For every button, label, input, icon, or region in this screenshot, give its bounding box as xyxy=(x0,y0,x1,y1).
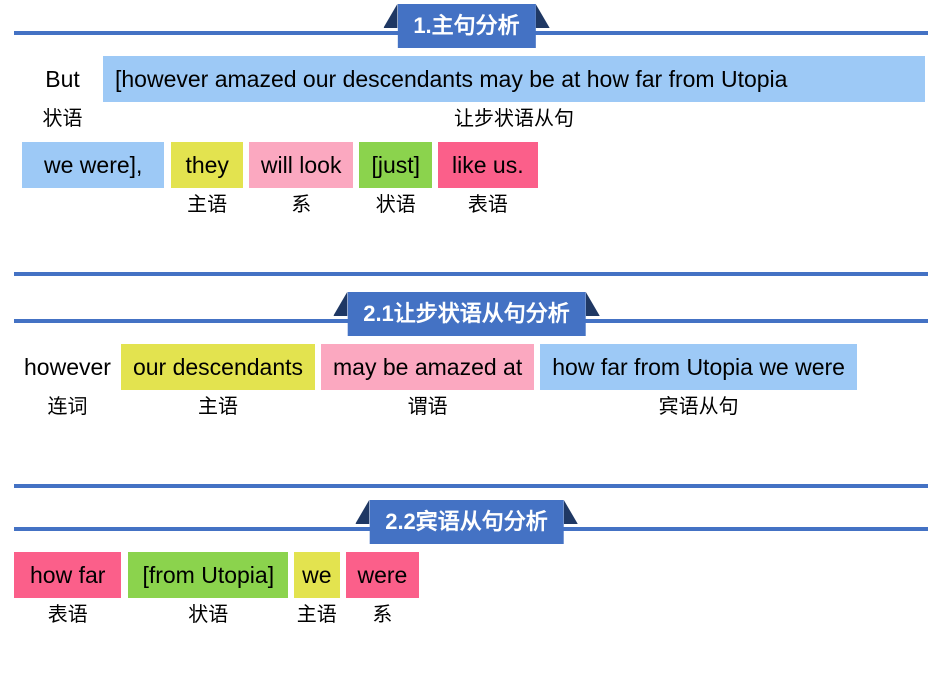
ribbon-tail-right-icon xyxy=(536,4,550,28)
chunk-text: how far from Utopia we were xyxy=(540,344,857,390)
chunk-text: may be amazed at xyxy=(321,344,534,390)
chunk-label: 谓语 xyxy=(321,390,534,424)
clause-chunk: we were], xyxy=(22,142,164,222)
chunk-text: we were], xyxy=(22,142,164,188)
clause-rows-2: however 连词 our descendants 主语 may be ama… xyxy=(0,344,933,424)
banner-title-2: 2.1让步状语从句分析 xyxy=(347,292,586,336)
chunk-text: [from Utopia] xyxy=(128,552,288,598)
clause-chunk: how far from Utopia we were 宾语从句 xyxy=(540,344,857,424)
section-banner-3: 2.2宾语从句分析 xyxy=(0,496,933,552)
chunk-label: 表语 xyxy=(14,598,121,632)
clause-chunk: like us. 表语 xyxy=(438,142,538,222)
chunk-text: will look xyxy=(249,142,354,188)
chunk-label: 状语 xyxy=(22,102,103,136)
chunk-label xyxy=(22,188,164,222)
chunk-label: 表语 xyxy=(438,188,538,222)
chunk-text: our descendants xyxy=(121,344,315,390)
banner-label-1: 1.主句分析 xyxy=(413,13,519,38)
chunk-label: 宾语从句 xyxy=(540,390,857,424)
clause-row: we were], they 主语 will look 系 [just] 状语 … xyxy=(0,142,933,222)
section-banner-2: 2.1让步状语从句分析 xyxy=(0,288,933,344)
ribbon-tail-left-icon xyxy=(383,4,397,28)
ribbon-tail-left-icon xyxy=(333,292,347,316)
section-divider-1 xyxy=(14,272,928,276)
section-main-clause: 1.主句分析 But 状语 [however amazed our descen… xyxy=(0,0,933,222)
ribbon-tail-right-icon xyxy=(564,500,578,524)
banner-title-3: 2.2宾语从句分析 xyxy=(369,500,564,544)
ribbon-tail-right-icon xyxy=(586,292,600,316)
chunk-text: [however amazed our descendants may be a… xyxy=(103,56,925,102)
banner-label-2: 2.1让步状语从句分析 xyxy=(363,301,570,326)
chunk-text: like us. xyxy=(438,142,538,188)
clause-row: But 状语 [however amazed our descendants m… xyxy=(0,56,933,136)
banner-title-1: 1.主句分析 xyxy=(397,4,535,48)
clause-chunk: we 主语 xyxy=(294,552,339,632)
ribbon-tail-left-icon xyxy=(355,500,369,524)
clause-chunk: [just] 状语 xyxy=(359,142,432,222)
clause-chunk: [however amazed our descendants may be a… xyxy=(103,56,925,136)
chunk-text: [just] xyxy=(359,142,432,188)
clause-chunk: how far 表语 xyxy=(14,552,121,632)
clause-chunk: our descendants 主语 xyxy=(121,344,315,424)
chunk-label: 连词 xyxy=(14,390,121,424)
chunk-label: 让步状语从句 xyxy=(103,102,925,136)
chunk-text: they xyxy=(171,142,242,188)
section-object-clause: 2.2宾语从句分析 how far 表语 [from Utopia] 状语 we… xyxy=(0,496,933,632)
chunk-label: 系 xyxy=(249,188,354,222)
clause-rows-3: how far 表语 [from Utopia] 状语 we 主语 were 系 xyxy=(0,552,933,632)
clause-chunk: will look 系 xyxy=(249,142,354,222)
chunk-text: how far xyxy=(14,552,121,598)
section-divider-2 xyxy=(14,484,928,488)
chunk-label: 主语 xyxy=(294,598,339,632)
clause-rows-1: But 状语 [however amazed our descendants m… xyxy=(0,56,933,222)
clause-chunk: [from Utopia] 状语 xyxy=(128,552,288,632)
clause-chunk: were 系 xyxy=(346,552,420,632)
sentence-analysis-page: 1.主句分析 But 状语 [however amazed our descen… xyxy=(0,0,933,698)
chunk-text: were xyxy=(346,552,420,598)
chunk-label: 状语 xyxy=(359,188,432,222)
chunk-label: 状语 xyxy=(128,598,288,632)
clause-chunk: they 主语 xyxy=(171,142,242,222)
banner-label-3: 2.2宾语从句分析 xyxy=(385,509,548,534)
clause-row: however 连词 our descendants 主语 may be ama… xyxy=(0,344,933,424)
chunk-label: 主语 xyxy=(171,188,242,222)
clause-row: how far 表语 [from Utopia] 状语 we 主语 were 系 xyxy=(0,552,933,632)
chunk-label: 主语 xyxy=(121,390,315,424)
clause-chunk: may be amazed at 谓语 xyxy=(321,344,534,424)
chunk-text: however xyxy=(14,344,121,390)
chunk-text: we xyxy=(294,552,339,598)
clause-chunk: But 状语 xyxy=(22,56,103,136)
section-banner-1: 1.主句分析 xyxy=(0,0,933,56)
chunk-label: 系 xyxy=(346,598,420,632)
section-concessive-clause: 2.1让步状语从句分析 however 连词 our descendants 主… xyxy=(0,288,933,424)
chunk-text: But xyxy=(22,56,103,102)
clause-chunk: however 连词 xyxy=(14,344,121,424)
